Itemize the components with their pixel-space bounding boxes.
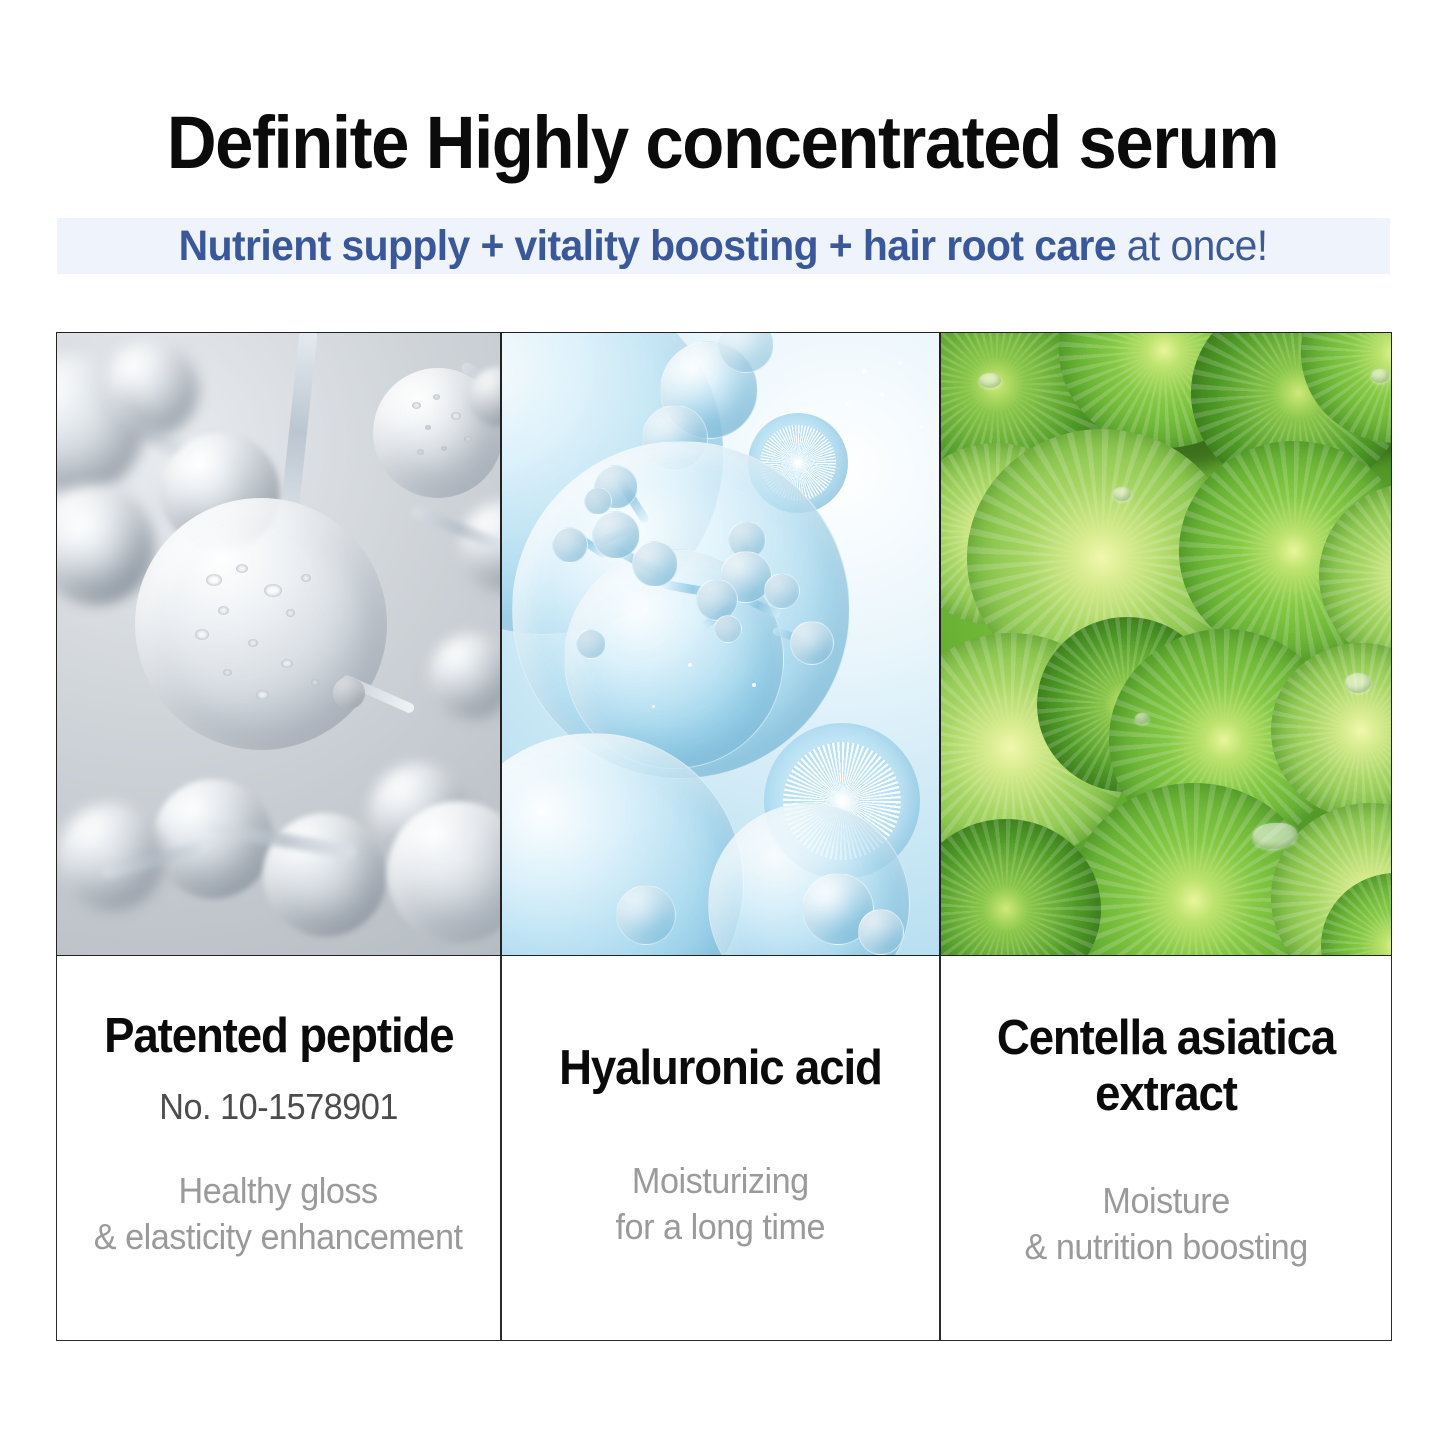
water-droplet-icon bbox=[1371, 369, 1389, 383]
ingredient-name: Centella asiatica extract bbox=[980, 1010, 1352, 1122]
ingredient-benefit-line-2: for a long time bbox=[616, 1204, 826, 1250]
ingredient-name: Hyaluronic acid bbox=[559, 1040, 882, 1096]
page-title: Definite Highly concentrated serum bbox=[51, 100, 1395, 186]
ingredient-benefit: Healthy gloss & elasticity enhancement bbox=[94, 1168, 463, 1260]
water-droplet-icon bbox=[1135, 713, 1149, 724]
green-centella-leaves-image bbox=[941, 333, 1391, 955]
ingredient-grid: Patented peptide No. 10-1578901 Healthy … bbox=[56, 332, 1392, 1341]
ingredient-benefit-line-1: Moisture bbox=[1024, 1178, 1307, 1224]
ingredient-text-centella: Centella asiatica extract Moisture & nut… bbox=[940, 956, 1392, 1341]
ingredient-image-centella bbox=[940, 332, 1392, 956]
ingredient-benefit-line-2: & elasticity enhancement bbox=[94, 1214, 463, 1260]
product-info-page: Definite Highly concentrated serum Nutri… bbox=[0, 0, 1445, 1445]
ingredient-patent-number: No. 10-1578901 bbox=[159, 1086, 398, 1128]
ingredient-image-peptide bbox=[56, 332, 501, 956]
subtitle-text: Nutrient supply + vitality boosting + ha… bbox=[179, 221, 1268, 271]
blue-water-bubbles-molecule-image bbox=[502, 333, 939, 955]
ingredient-text-hyaluronic: Hyaluronic acid Moisturizing for a long … bbox=[501, 956, 940, 1341]
ingredient-text-peptide: Patented peptide No. 10-1578901 Healthy … bbox=[56, 956, 501, 1341]
ingredient-benefit-line-2: & nutrition boosting bbox=[1024, 1224, 1307, 1270]
water-droplet-icon bbox=[979, 373, 1001, 388]
water-droplet-icon bbox=[1113, 487, 1131, 501]
ingredient-benefit: Moisture & nutrition boosting bbox=[1024, 1178, 1307, 1270]
ingredient-benefit-line-1: Healthy gloss bbox=[94, 1168, 463, 1214]
subtitle-light-text: at once! bbox=[1116, 222, 1268, 270]
subtitle-banner: Nutrient supply + vitality boosting + ha… bbox=[57, 218, 1390, 274]
water-droplet-icon bbox=[1345, 673, 1371, 693]
silver-molecule-spheres-image bbox=[57, 333, 500, 955]
ingredient-benefit-line-1: Moisturizing bbox=[616, 1158, 826, 1204]
subtitle-bold-text: Nutrient supply + vitality boosting + ha… bbox=[179, 222, 1116, 270]
ingredient-image-hyaluronic bbox=[501, 332, 940, 956]
ingredient-benefit: Moisturizing for a long time bbox=[616, 1158, 826, 1250]
ingredient-name: Patented peptide bbox=[104, 1008, 453, 1064]
